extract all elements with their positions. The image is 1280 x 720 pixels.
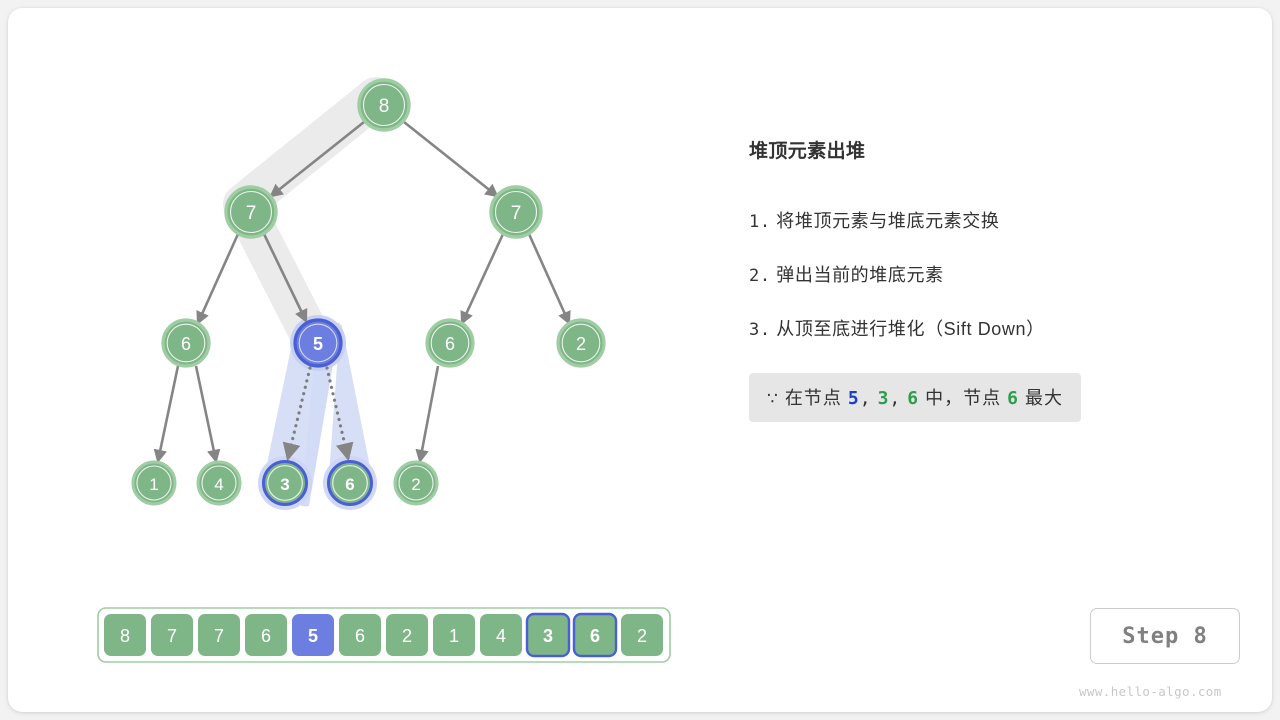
conclusion-value-3: 6 <box>907 388 919 409</box>
array-cell-8[interactable]: 4 <box>480 614 522 656</box>
tree-edges <box>158 122 569 461</box>
array-cell-7[interactable]: 1 <box>433 614 475 656</box>
array-cell-7-label: 1 <box>449 626 459 646</box>
step-item-3-text: 从顶至底进行堆化（Sift Down） <box>776 319 1044 339</box>
array-cell-3-label: 6 <box>261 626 271 646</box>
tree-node-1-leaf-label: 1 <box>149 475 158 494</box>
because-icon: ∵ <box>767 389 779 408</box>
array-cell-5-label: 6 <box>355 626 365 646</box>
tree-node-8[interactable]: 8 <box>359 80 409 130</box>
array-cell-0-label: 8 <box>120 626 130 646</box>
array-cell-8-label: 4 <box>496 626 506 646</box>
tree-node-7-right[interactable]: 7 <box>491 187 541 237</box>
array-cell-2-label: 7 <box>214 626 224 646</box>
content-card: 8 7 7 6 5 <box>8 8 1272 712</box>
tree-node-6-candidate[interactable]: 6 <box>329 462 372 505</box>
tree-node-6-b[interactable]: 6 <box>427 320 473 366</box>
conclusion-prefix: 在节点 <box>785 388 842 408</box>
array-cell-6-label: 2 <box>402 626 412 646</box>
step-item-2-number: 2. <box>749 266 771 286</box>
tree-node-6-b-label: 6 <box>445 334 455 354</box>
tree-node-2-a-label: 2 <box>576 334 586 354</box>
step-item-2-text: 弹出当前的堆底元素 <box>776 265 943 285</box>
tree-node-7-right-label: 7 <box>511 203 522 224</box>
conclusion-suffix: 最大 <box>1025 388 1063 408</box>
array-cell-0[interactable]: 8 <box>104 614 146 656</box>
tree-node-6-candidate-label: 6 <box>345 475 354 494</box>
tree-node-3-candidate[interactable]: 3 <box>264 462 307 505</box>
tree-node-5-current[interactable]: 5 <box>295 320 341 366</box>
heap-tree-diagram: 8 7 7 6 5 <box>8 8 728 712</box>
array-cell-10-label: 6 <box>590 626 600 646</box>
tree-node-7-left-label: 7 <box>246 203 257 224</box>
conclusion-sep-2: , <box>889 388 901 409</box>
tree-node-8-label: 8 <box>379 96 390 117</box>
conclusion-middle: 中，节点 <box>925 388 1001 408</box>
tree-node-5-current-label: 5 <box>313 334 323 354</box>
tree-node-6-a-label: 6 <box>181 334 191 354</box>
array-cell-11[interactable]: 2 <box>621 614 663 656</box>
array-cell-10[interactable]: 6 <box>574 614 616 656</box>
explanation-panel: 堆顶元素出堆 1. 将堆顶元素与堆底元素交换 2. 弹出当前的堆底元素 3. 从… <box>749 136 1229 422</box>
screenshot-root: 8 7 7 6 5 <box>0 0 1280 720</box>
tree-node-2-leaf-label: 2 <box>411 475 420 494</box>
tree-node-4-leaf-label: 4 <box>214 475 223 494</box>
array-cell-6[interactable]: 2 <box>386 614 428 656</box>
watermark: www.hello-algo.com <box>1079 684 1222 699</box>
step-item-3: 3. 从顶至底进行堆化（Sift Down） <box>749 315 1229 341</box>
tree-node-3-candidate-label: 3 <box>280 475 289 494</box>
tree-node-2-leaf[interactable]: 2 <box>395 462 437 504</box>
array-cell-1[interactable]: 7 <box>151 614 193 656</box>
conclusion-value-1: 5 <box>848 388 860 409</box>
array-cell-4[interactable]: 5 <box>292 614 334 656</box>
array-cell-3[interactable]: 6 <box>245 614 287 656</box>
array-cell-11-label: 2 <box>637 626 647 646</box>
tree-node-2-a[interactable]: 2 <box>558 320 604 366</box>
tree-node-4-leaf[interactable]: 4 <box>198 462 240 504</box>
array-cell-9[interactable]: 3 <box>527 614 569 656</box>
status-badge: Step 8 <box>1090 608 1240 664</box>
tree-node-1-leaf[interactable]: 1 <box>133 462 175 504</box>
step-item-1-number: 1. <box>749 212 771 232</box>
array-cell-4-label: 5 <box>308 626 318 646</box>
heap-array: 8 7 7 6 5 <box>98 608 670 662</box>
step-item-1-text: 将堆顶元素与堆底元素交换 <box>776 211 999 231</box>
conclusion-value-2: 3 <box>878 388 890 409</box>
array-cell-9-label: 3 <box>543 626 553 646</box>
array-cell-2[interactable]: 7 <box>198 614 240 656</box>
conclusion-value-max: 6 <box>1007 388 1019 409</box>
step-item-1: 1. 将堆顶元素与堆底元素交换 <box>749 207 1229 233</box>
step-item-3-number: 3. <box>749 320 771 340</box>
step-item-2: 2. 弹出当前的堆底元素 <box>749 261 1229 287</box>
array-cell-1-label: 7 <box>167 626 177 646</box>
conclusion-box: ∵ 在节点 5, 3, 6 中，节点 6 最大 <box>749 373 1081 422</box>
tree-node-6-a[interactable]: 6 <box>163 320 209 366</box>
conclusion-sep-1: , <box>860 388 872 409</box>
page-title: 堆顶元素出堆 <box>749 136 1229 163</box>
array-cell-5[interactable]: 6 <box>339 614 381 656</box>
tree-node-7-left[interactable]: 7 <box>226 187 276 237</box>
